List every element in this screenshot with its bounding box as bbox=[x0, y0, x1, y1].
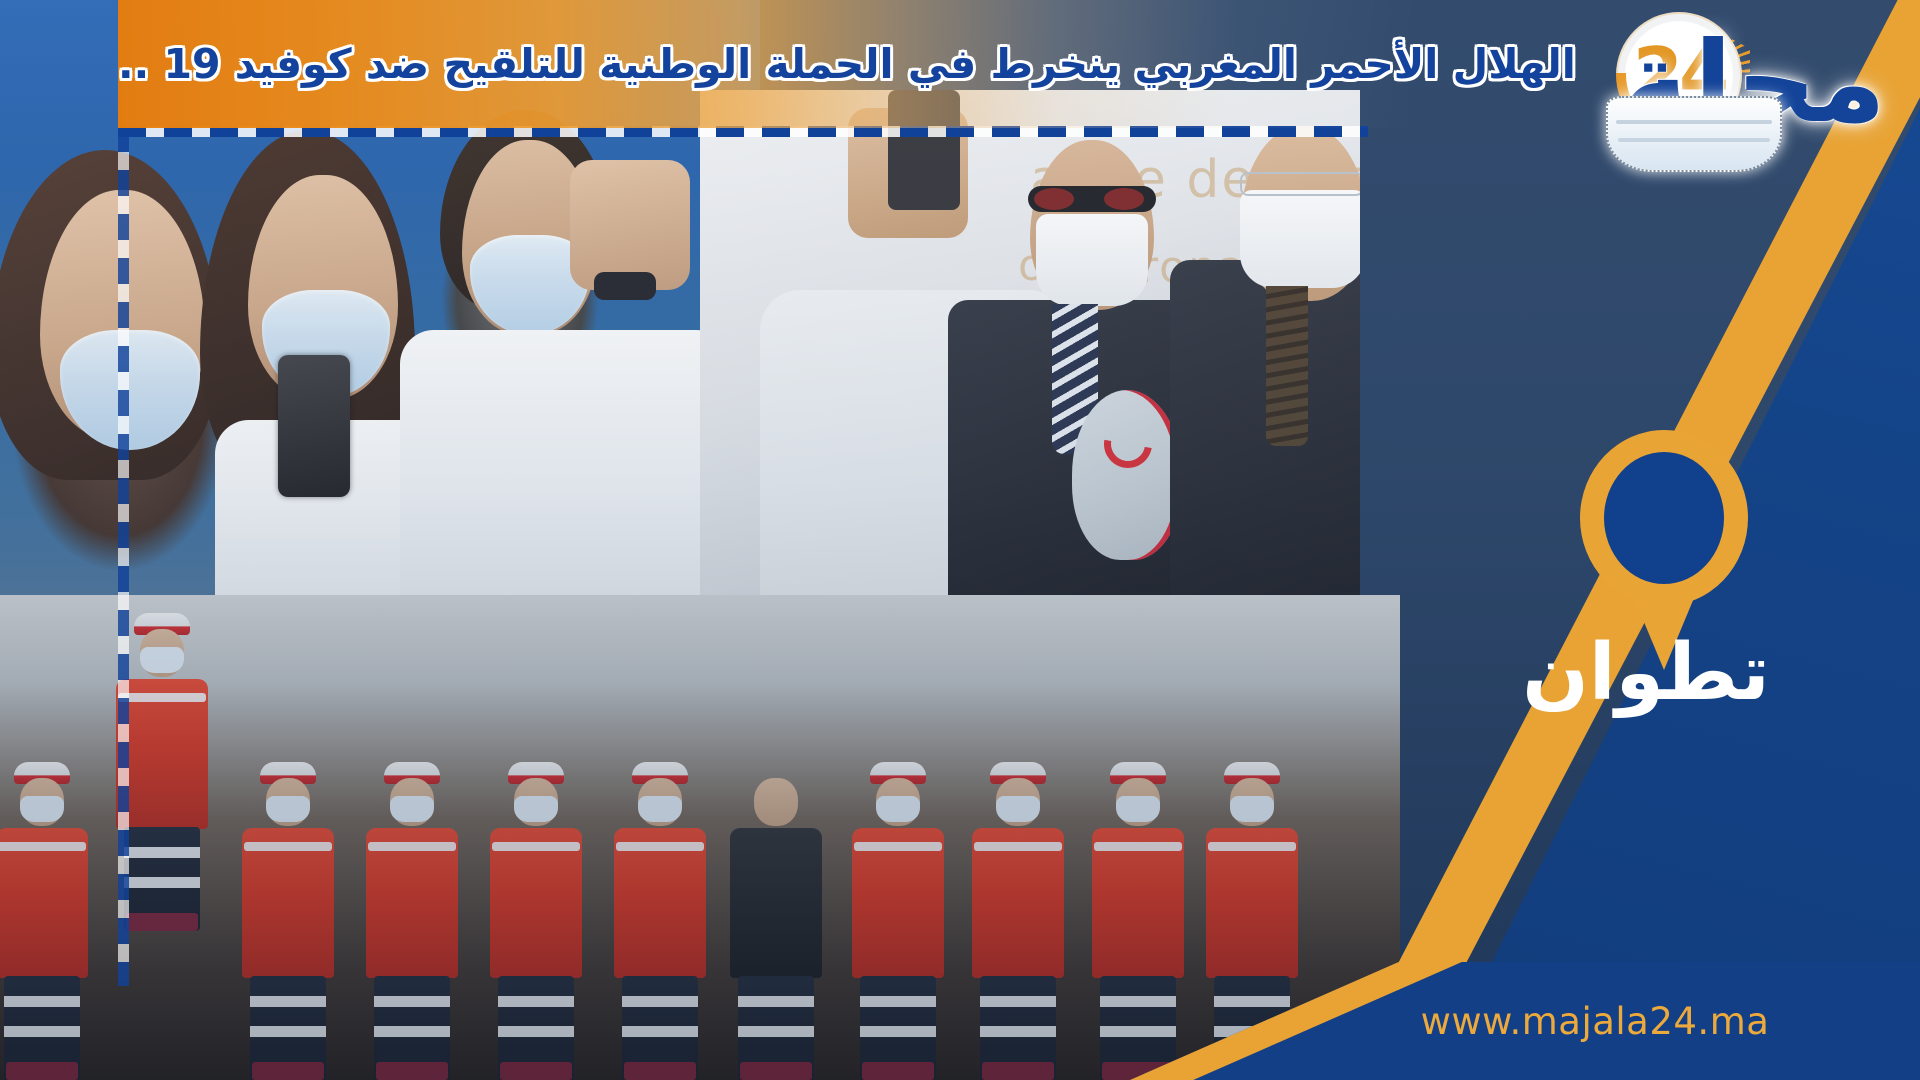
sunglass-lens bbox=[1104, 188, 1144, 210]
trophy bbox=[1072, 390, 1182, 560]
face-mask bbox=[1036, 214, 1148, 306]
volunteer-civilian bbox=[724, 750, 828, 1080]
eyeglasses-icon bbox=[1240, 172, 1360, 196]
pin-inner-circle bbox=[1604, 452, 1724, 584]
face-mask-icon bbox=[1606, 96, 1782, 172]
photo-award-ceremony: agne de vac ontre ronavi bbox=[700, 90, 1360, 630]
face-mask bbox=[1240, 190, 1360, 288]
page-title: الهلال الأحمر المغربي ينخرط في الحملة ال… bbox=[118, 0, 1418, 128]
volunteer bbox=[484, 750, 588, 1080]
wristwatch bbox=[594, 272, 656, 300]
volunteer bbox=[608, 750, 712, 1080]
volunteer bbox=[0, 750, 94, 1080]
sunglass-lens bbox=[1034, 188, 1074, 210]
raised-hand bbox=[570, 160, 690, 290]
dashed-border-left bbox=[118, 126, 129, 986]
volunteer bbox=[846, 750, 950, 1080]
location-label: تطوان bbox=[1496, 628, 1796, 718]
necktie bbox=[1266, 286, 1308, 446]
volunteer bbox=[236, 750, 340, 1080]
volunteer bbox=[966, 750, 1070, 1080]
brand-logo[interactable]: 24 مجلة bbox=[1400, 0, 1900, 176]
suit-official-presenting bbox=[1170, 260, 1360, 630]
smartphone bbox=[278, 355, 350, 497]
volunteer bbox=[360, 750, 464, 1080]
poster-canvas: agne de vac ontre ronavi bbox=[0, 0, 1920, 1080]
website-url[interactable]: www.majala24.ma bbox=[1130, 962, 1920, 1080]
